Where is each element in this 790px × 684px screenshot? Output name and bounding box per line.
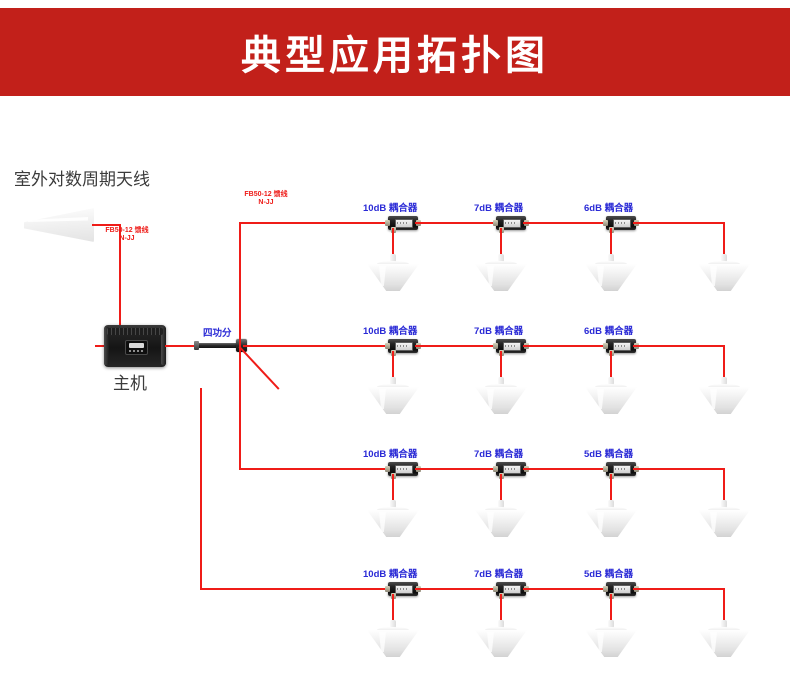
ceiling-antenna-b1-4 bbox=[698, 254, 750, 292]
page-header: 典型应用拓扑图 bbox=[0, 8, 790, 96]
ceiling-antenna-b4-1 bbox=[367, 620, 419, 658]
wire-branch3-feed bbox=[239, 468, 403, 470]
outdoor-antenna-label: 室外对数周期天线 bbox=[14, 170, 150, 190]
coupler-label-b4-c2: 7dB 耦合器 bbox=[474, 570, 523, 581]
wire-branch4-vertical bbox=[200, 388, 202, 590]
coupler-label-b3-c3: 5dB 耦合器 bbox=[584, 450, 633, 461]
topology-canvas: 室外对数周期天线 FB50-12 馈线 N-JJ 主机 四功分 bbox=[0, 96, 790, 684]
ceiling-antenna-b2-2 bbox=[475, 377, 527, 415]
coupler-label-b4-c1: 10dB 耦合器 bbox=[363, 570, 417, 581]
wire-antenna-to-drop bbox=[92, 224, 121, 226]
coupler-label-b4-c3: 5dB 耦合器 bbox=[584, 570, 633, 581]
ceiling-antenna-b2-1 bbox=[367, 377, 419, 415]
wire-branch2-feed bbox=[243, 345, 403, 347]
wire-branch4-feed bbox=[200, 588, 402, 590]
coupler-label-b1-c1: 10dB 耦合器 bbox=[363, 204, 417, 215]
ceiling-antenna-b4-3 bbox=[585, 620, 637, 658]
coupler-label-b3-c1: 10dB 耦合器 bbox=[363, 450, 417, 461]
host-unit-label: 主机 bbox=[113, 374, 147, 394]
ceiling-antenna-b1-1 bbox=[367, 254, 419, 292]
ceiling-antenna-b2-3 bbox=[585, 377, 637, 415]
coupler-label-b2-c2: 7dB 耦合器 bbox=[474, 327, 523, 338]
ceiling-antenna-b4-4 bbox=[698, 620, 750, 658]
ceiling-antenna-b4-2 bbox=[475, 620, 527, 658]
host-unit-icon bbox=[104, 325, 166, 367]
outdoor-log-periodic-antenna-icon bbox=[24, 208, 94, 242]
coupler-label-b2-c1: 10dB 耦合器 bbox=[363, 327, 417, 338]
feeder-label-antenna-line2: N-JJ bbox=[96, 235, 158, 243]
feeder-label-antenna: FB50-12 馈线 N-JJ bbox=[96, 227, 158, 243]
wire-branch1-feed bbox=[239, 222, 403, 224]
ceiling-antenna-b1-2 bbox=[475, 254, 527, 292]
splitter-label: 四功分 bbox=[203, 329, 232, 340]
coupler-label-b1-c2: 7dB 耦合器 bbox=[474, 204, 523, 215]
wire-b3-seg4 bbox=[633, 468, 725, 470]
ceiling-antenna-b1-3 bbox=[585, 254, 637, 292]
feeder-label-splitter-line2: N-JJ bbox=[235, 199, 297, 207]
wire-splitter-diagonal bbox=[239, 346, 280, 390]
topology-page: 典型应用拓扑图 室外对数周期天线 FB50-12 馈线 N-JJ 主机 bbox=[0, 0, 790, 684]
page-title: 典型应用拓扑图 bbox=[241, 23, 549, 81]
ceiling-antenna-b3-2 bbox=[475, 500, 527, 538]
coupler-label-b2-c3: 6dB 耦合器 bbox=[584, 327, 633, 338]
feeder-label-splitter-line1: FB50-12 馈线 bbox=[235, 191, 297, 199]
wire-b1-seg4 bbox=[633, 222, 725, 224]
ceiling-antenna-b2-4 bbox=[698, 377, 750, 415]
ceiling-antenna-b3-4 bbox=[698, 500, 750, 538]
coupler-label-b1-c3: 6dB 耦合器 bbox=[584, 204, 633, 215]
feeder-label-antenna-line1: FB50-12 馈线 bbox=[96, 227, 158, 235]
feeder-label-splitter: FB50-12 馈线 N-JJ bbox=[235, 191, 297, 207]
ceiling-antenna-b3-1 bbox=[367, 500, 419, 538]
ceiling-antenna-b3-3 bbox=[585, 500, 637, 538]
wire-b2-seg4 bbox=[633, 345, 725, 347]
coupler-label-b3-c2: 7dB 耦合器 bbox=[474, 450, 523, 461]
wire-b4-seg4 bbox=[633, 588, 725, 590]
